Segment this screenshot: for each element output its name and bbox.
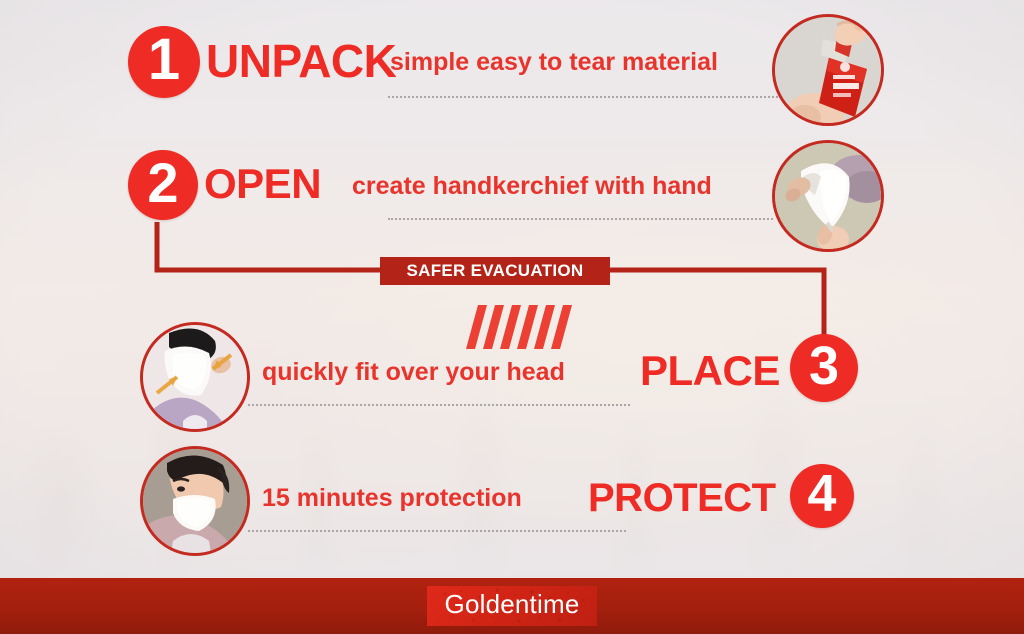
step-number-4: 4 [808,468,837,520]
footer-bar: Goldentime [0,578,1024,634]
step-badge-1: 1 [128,26,200,98]
photo-protect-wearing-mask [140,446,250,556]
brand-logo: Goldentime [427,586,598,626]
step-badge-4: 4 [790,464,854,528]
step-badge-3: 3 [790,334,858,402]
step-underline-3 [248,404,630,406]
step-underline-1 [388,96,778,98]
infographic-poster: 1 UNPACK simple easy to tear material [0,0,1024,634]
step-underline-2 [388,218,773,220]
step-caption-4: 15 minutes protection [262,486,522,511]
step-number-3: 3 [809,339,839,393]
photo-unpack-tearing-package [772,14,884,126]
photo-place-image [143,325,247,429]
photo-unpack-image [775,17,881,123]
photo-place-over-head [140,322,250,432]
photo-open-handkerchief [772,140,884,252]
step-caption-3: quickly fit over your head [262,360,565,385]
safer-evacuation-banner: SAFER EVACUATION [380,257,610,285]
brand-name: Goldentime [445,590,580,620]
photo-protect-image [143,449,247,553]
photo-open-image [775,143,881,249]
step-title-3: PLACE [640,350,780,392]
step-title-2: OPEN [204,163,321,205]
step-number-1: 1 [148,31,180,89]
banner-label: SAFER EVACUATION [406,261,583,281]
step-caption-1: simple easy to tear material [390,50,718,75]
step-number-2: 2 [147,155,178,211]
step-title-1: UNPACK [206,38,396,84]
step-underline-4 [248,530,626,532]
step-caption-2: create handkerchief with hand [352,174,712,199]
step-badge-2: 2 [128,150,198,220]
poster-content: 1 UNPACK simple easy to tear material [0,0,1024,634]
hatch-stripes [452,305,572,349]
step-title-4: PROTECT [588,478,776,518]
